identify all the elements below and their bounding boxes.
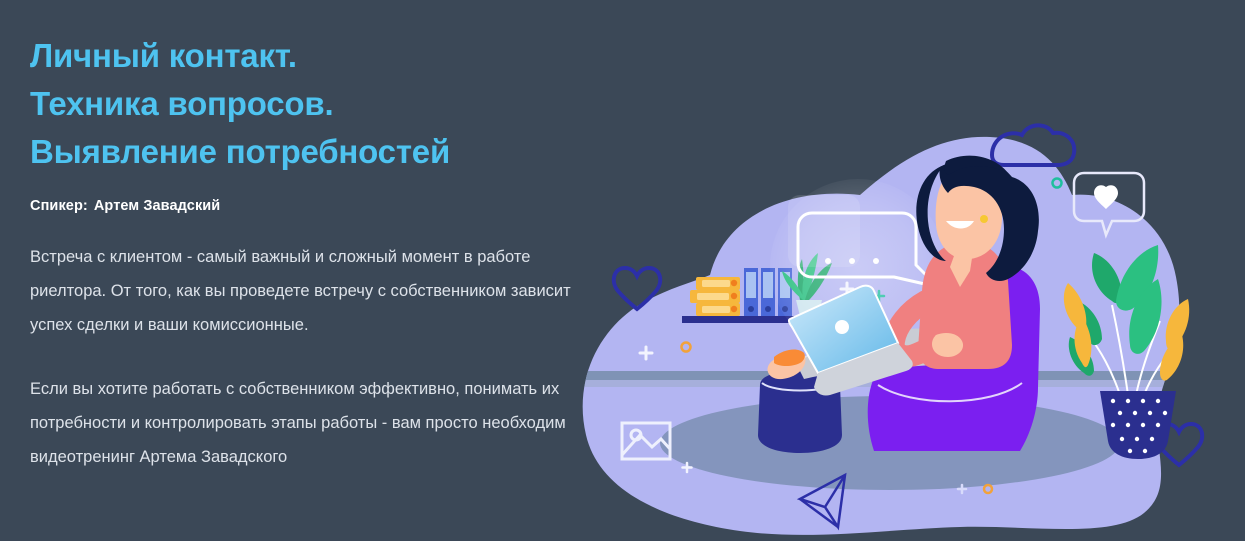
orange-books xyxy=(690,277,740,316)
speaker-line: Спикер:Артем Завадский xyxy=(30,198,590,214)
speaker-label: Спикер: xyxy=(30,198,88,214)
page-title-line-2: Техника вопросов. xyxy=(30,80,590,128)
page-title-line-3: Выявление потребностей xyxy=(30,128,590,176)
hero-paragraph-2: Если вы хотите работать с собственником … xyxy=(30,372,586,474)
hero-paragraph-1: Встреча с клиентом - самый важный и слож… xyxy=(30,240,586,342)
hero-illustration xyxy=(560,95,1245,541)
page-title: Личный контакт. Техника вопросов. Выявле… xyxy=(30,32,590,176)
hero-banner: Личный контакт. Техника вопросов. Выявле… xyxy=(0,0,1245,541)
page-title-line-1: Личный контакт. xyxy=(30,32,590,80)
hero-copy-column: Личный контакт. Техника вопросов. Выявле… xyxy=(30,32,590,474)
speaker-name: Артем Завадский xyxy=(94,198,220,214)
